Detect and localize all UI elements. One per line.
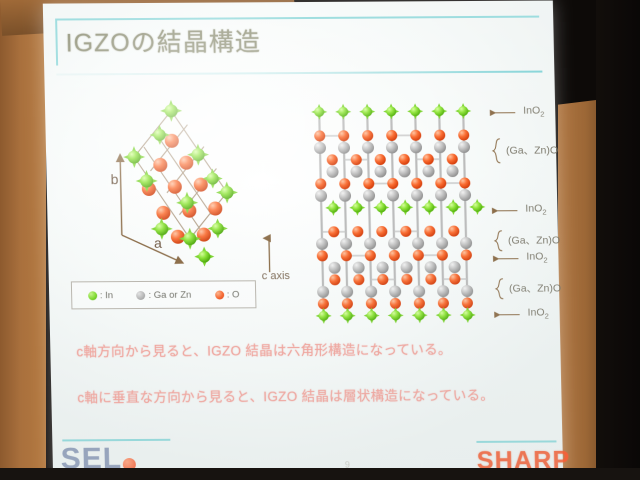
body-text-line-1: c軸方向から見ると、IGZO 結晶は六角形構造になっている。 [76,338,452,360]
legend-label-o: : O [227,289,240,300]
presentation-slide: IGZOの結晶構造 b a [43,0,563,479]
legend-item-in: : In [88,290,113,301]
body-text-line-2: c軸に垂直な方向から見ると、IGZO 結晶は層状構造になっている。 [77,384,494,407]
gazn-atom-icon [136,290,145,299]
room-wall-left [0,0,46,480]
crystal-structure-c-axis-view: b a [75,94,279,275]
right-lattice-atoms [307,99,492,330]
footer-rule-right [476,440,556,442]
o-atom-icon [215,290,224,299]
projected-slide-wrapper: IGZOの結晶構造 b a [43,0,563,479]
legend-item-o: : O [215,289,240,300]
screenshot-stage: IGZOの結晶構造 b a [0,0,640,480]
title-frame: IGZOの結晶構造 [47,11,548,76]
c-axis-label: c axis [262,270,290,282]
room-shadow-right [596,0,640,480]
layer-label-gazno-1: (Ga、Zn)O [506,142,558,157]
layer-label-gazno-3: (Ga、Zn)O [509,280,561,295]
in-atom-icon [88,291,97,300]
title-underline [56,71,542,76]
layer-label-ino2-3: InO2 [526,251,547,265]
atom-color-legend: : In : Ga or Zn : O [71,280,257,309]
c-axis-arrow [261,230,278,274]
title-left-rule [55,20,58,66]
legend-label-gazn: : Ga or Zn [148,289,191,300]
legend-item-gazn: : Ga or Zn [136,289,191,300]
title-top-rule [55,16,539,21]
crystal-structure-layered-view [307,99,492,330]
left-lattice-atoms [75,94,279,275]
layer-label-ino2-1: InO2 [523,105,544,119]
layer-label-ino2-2: InO2 [525,203,546,217]
layer-label-column: InO2 (Ga、Zn)O InO2 (Ga、Zn)O InO2 (Ga、Zn)… [489,100,564,330]
layer-label-ino2-4: InO2 [528,306,549,320]
page-title: IGZOの結晶構造 [65,22,261,59]
footer-rule-left [62,439,170,442]
layer-label-gazno-2: (Ga、Zn)O [508,232,560,247]
room-wall-bottom [0,468,640,480]
legend-label-in: : In [100,290,113,301]
